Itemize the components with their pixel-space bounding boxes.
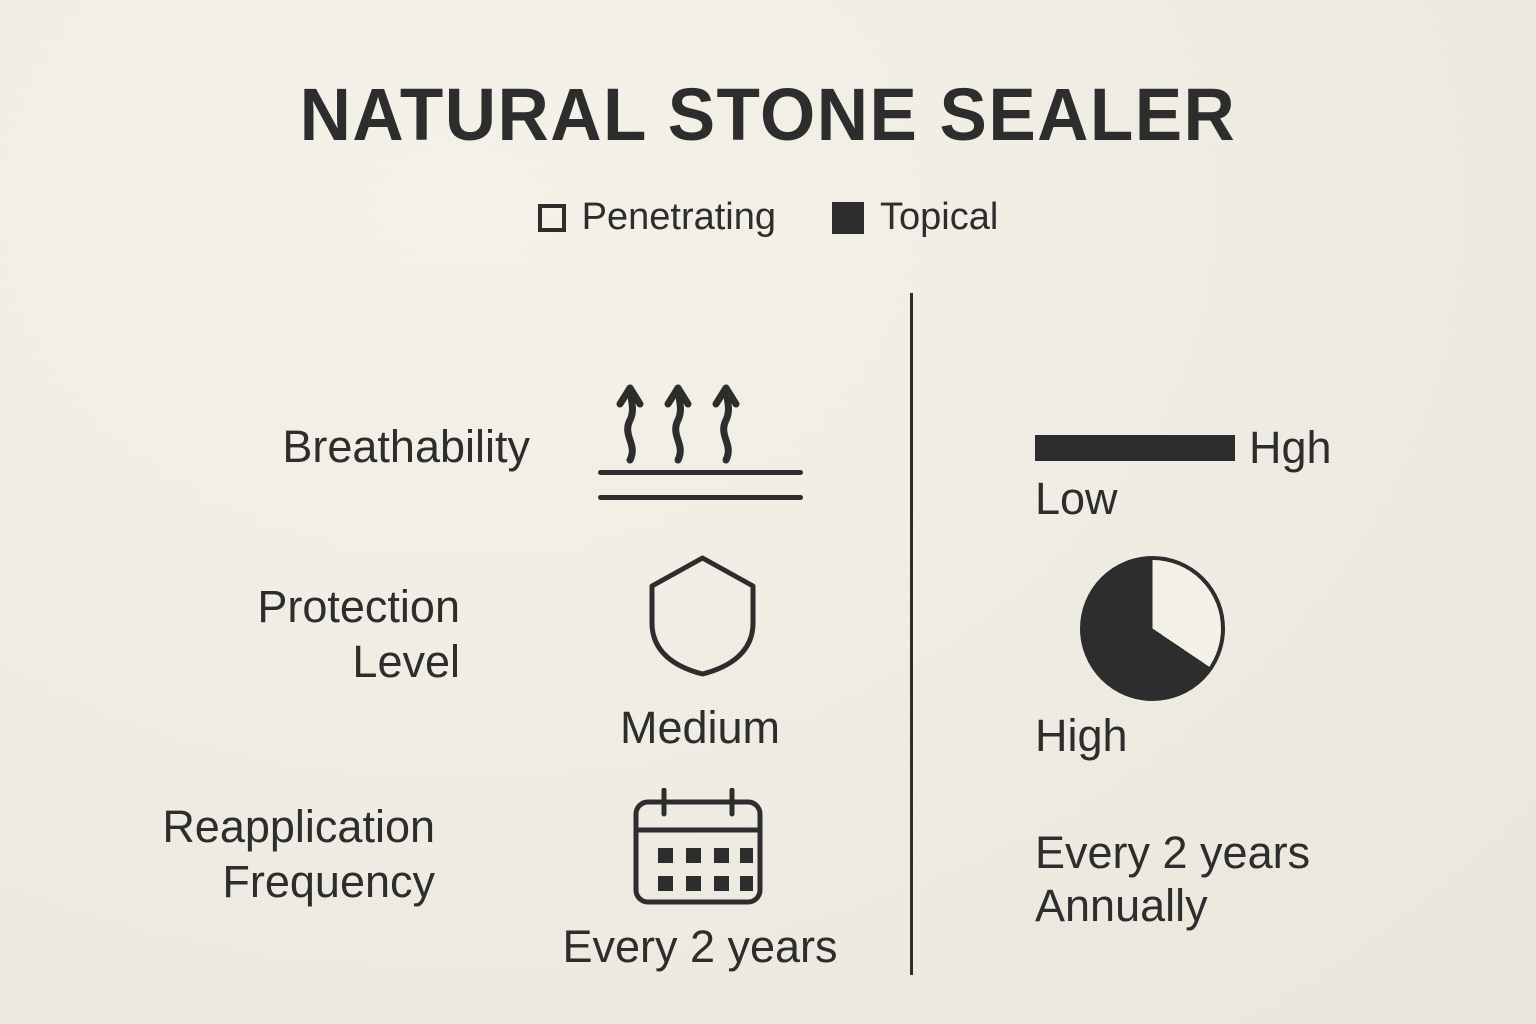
infographic-canvas: NATURAL STONE SEALER Penetrating Topical… — [0, 0, 1536, 1024]
page-title: NATURAL STONE SEALER — [31, 78, 1506, 152]
surface-line-top — [598, 470, 803, 475]
surface-line-bottom — [598, 495, 803, 500]
reapplication-frequency-caption: Every 2 years — [490, 922, 910, 972]
row-label-reapplication-frequency: Reapplication Frequency — [60, 800, 435, 910]
vapor-arrows-icon — [598, 378, 808, 503]
legend-item-topical[interactable]: Topical — [832, 196, 998, 239]
row-label-protection-level: Protection Level — [140, 580, 460, 690]
column-divider — [910, 293, 913, 975]
protection-pie-label: High — [1035, 710, 1128, 762]
breathability-bar-high-label: Hgh — [1249, 425, 1332, 470]
protection-level-caption: Medium — [490, 703, 910, 753]
shield-icon — [645, 553, 760, 678]
legend: Penetrating Topical — [0, 196, 1536, 239]
breathability-bar-low-label: Low — [1035, 473, 1118, 525]
filled-square-icon — [832, 202, 864, 234]
protection-pie-chart — [1080, 556, 1225, 701]
calendar-icon — [628, 788, 768, 906]
breathability-bar — [1035, 435, 1235, 461]
open-square-icon — [538, 204, 566, 232]
reapplication-frequency-values: Every 2 years Annually — [1035, 826, 1310, 932]
legend-label-penetrating: Penetrating — [582, 196, 776, 239]
breathability-bar-group: Hgh — [1035, 425, 1332, 470]
row-label-breathability: Breathability — [140, 420, 530, 475]
legend-item-penetrating[interactable]: Penetrating — [538, 196, 776, 239]
legend-label-topical: Topical — [880, 196, 998, 239]
